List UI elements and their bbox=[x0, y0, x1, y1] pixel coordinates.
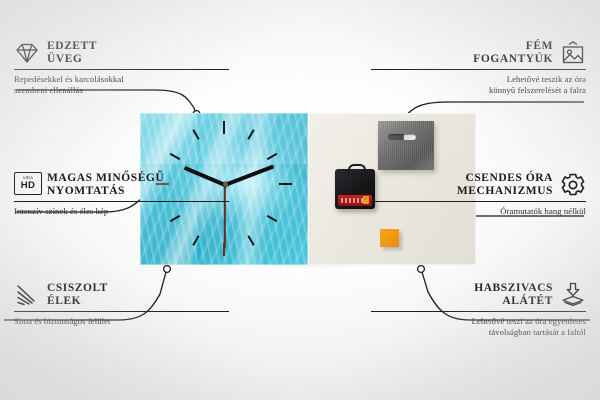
callout-rule bbox=[14, 201, 229, 202]
callout-header: FÉM FOGANTYÚK bbox=[371, 40, 586, 66]
hanger-slot bbox=[388, 134, 416, 140]
callout-title: CSISZOLT ÉLEK bbox=[47, 282, 108, 308]
polished-edges-icon bbox=[14, 282, 40, 308]
callout-rule bbox=[371, 201, 586, 202]
callout-header: CSENDES ÓRA MECHANIZMUS bbox=[371, 172, 586, 198]
callout-title: EDZETT ÜVEG bbox=[47, 40, 97, 66]
callout-subtitle: Intenzív színek és éles kép bbox=[14, 206, 229, 217]
callout-magas-minosegu-nyomtatas: ultra HD MAGAS MINŐSÉGŰ NYOMTATÁS Intenz… bbox=[14, 172, 229, 217]
callout-edzett-uveg: EDZETT ÜVEG Repedésekkel és karcolásokka… bbox=[14, 40, 229, 96]
callout-csiszolt-elek: CSISZOLT ÉLEK Sima és biztonságos felüle… bbox=[14, 282, 229, 327]
callout-subtitle: Lehetővé teszi az óra egyenletes távolsá… bbox=[371, 316, 586, 338]
ultra-hd-icon: ultra HD bbox=[14, 172, 40, 198]
callout-rule bbox=[371, 69, 586, 70]
clock-tick bbox=[279, 183, 292, 185]
callout-subtitle: Lehetővé teszik az óra könnyű felszerelé… bbox=[371, 74, 586, 96]
mechanism-loop bbox=[348, 164, 366, 174]
callout-header: HABSZIVACS ALÁTÉT bbox=[371, 282, 586, 308]
callout-fem-fogantyuk: FÉM FOGANTYÚK Lehetővé teszik az óra kön… bbox=[371, 40, 586, 96]
callout-rule bbox=[371, 311, 586, 312]
callout-habszivacs-alatet: HABSZIVACS ALÁTÉT Lehetővé teszi az óra … bbox=[371, 282, 586, 338]
callout-subtitle: Óramutatók hang nélkül bbox=[371, 206, 586, 217]
battery-part: + bbox=[338, 195, 372, 206]
gear-icon bbox=[560, 172, 586, 198]
callout-header: EDZETT ÜVEG bbox=[14, 40, 229, 66]
diamond-icon bbox=[14, 40, 40, 66]
ultra-hd-main-text: HD bbox=[21, 181, 36, 191]
callout-title: FÉM FOGANTYÚK bbox=[473, 40, 553, 66]
infographic-canvas: + EDZETT ÜVEG Repedésekkel és karcolások… bbox=[0, 0, 600, 400]
callout-csendes-ora-mechanizmus: CSENDES ÓRA MECHANIZMUS Óramutatók hang … bbox=[371, 172, 586, 217]
foam-pad-icon bbox=[560, 282, 586, 308]
callout-rule bbox=[14, 69, 229, 70]
callout-subtitle: Repedésekkel és karcolásokkal szembeni e… bbox=[14, 74, 229, 96]
foam-pad-part bbox=[380, 229, 399, 247]
picture-hanger-icon bbox=[560, 40, 586, 66]
callout-header: ultra HD MAGAS MINŐSÉGŰ NYOMTATÁS bbox=[14, 172, 229, 198]
clock-mechanism-part: + bbox=[335, 169, 375, 209]
battery-plus-terminal: + bbox=[363, 196, 369, 204]
clock-tick bbox=[223, 121, 225, 134]
metal-hanger-part bbox=[378, 121, 434, 170]
callout-title: HABSZIVACS ALÁTÉT bbox=[474, 282, 553, 308]
battery-label bbox=[341, 198, 363, 203]
callout-rule bbox=[14, 311, 229, 312]
callout-header: CSISZOLT ÉLEK bbox=[14, 282, 229, 308]
callout-title: CSENDES ÓRA MECHANIZMUS bbox=[457, 172, 553, 198]
callout-title: MAGAS MINŐSÉGŰ NYOMTATÁS bbox=[47, 172, 164, 198]
callout-subtitle: Sima és biztonságos felület bbox=[14, 316, 229, 327]
